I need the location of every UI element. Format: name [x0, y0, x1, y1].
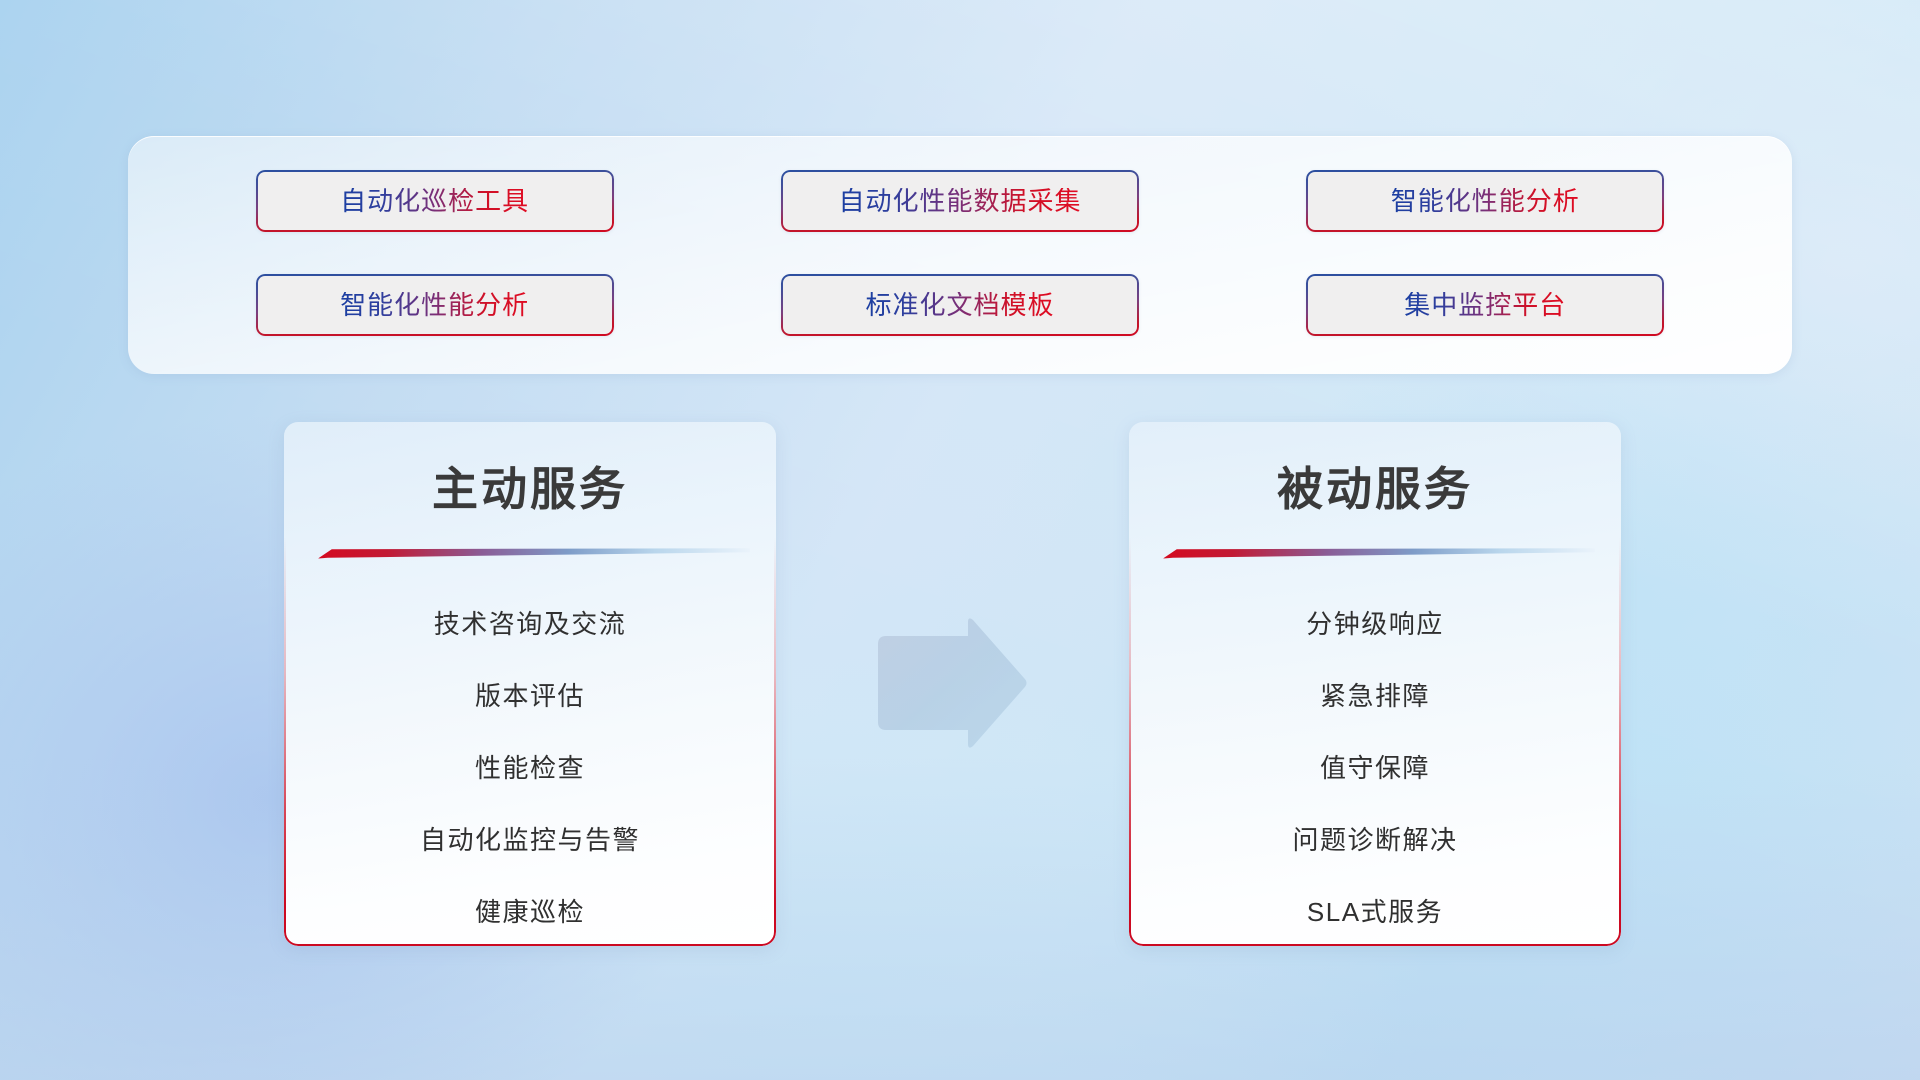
reactive-service-list: 分钟级响应 紧急排障 值守保障 问题诊断解决 SLA式服务	[1129, 588, 1621, 948]
capabilities-panel: 自动化巡检工具 自动化性能数据采集 智能化性能分析 智能化性能分析 标准化文档模…	[128, 136, 1792, 374]
capability-pill-label: 标准化文档模板	[865, 292, 1054, 318]
capability-pill[interactable]: 自动化巡检工具	[256, 170, 614, 232]
capability-pill[interactable]: 标准化文档模板	[781, 274, 1139, 336]
list-item: 健康巡检	[475, 876, 585, 948]
list-item: 紧急排障	[1320, 660, 1430, 732]
proactive-service-card[interactable]: 主动服务 技术咨询及交流 版本评估 性能检查 自动化监控与告警 健康巡检	[284, 422, 776, 946]
capabilities-grid: 自动化巡检工具 自动化性能数据采集 智能化性能分析 智能化性能分析 标准化文档模…	[128, 136, 1792, 374]
capability-pill[interactable]: 智能化性能分析	[1306, 170, 1664, 232]
list-item: 值守保障	[1320, 732, 1430, 804]
title-divider-gradient	[318, 548, 750, 559]
list-item: 自动化监控与告警	[420, 804, 640, 876]
capability-pill-label: 集中监控平台	[1404, 292, 1566, 318]
capability-pill-label: 智能化性能分析	[340, 292, 529, 318]
capability-pill-label: 自动化性能数据采集	[838, 188, 1081, 214]
proactive-service-title: 主动服务	[284, 466, 776, 512]
arrow-right-icon	[872, 618, 1032, 748]
capability-pill[interactable]: 集中监控平台	[1306, 274, 1664, 336]
list-item: 分钟级响应	[1306, 588, 1444, 660]
list-item: SLA式服务	[1307, 876, 1443, 948]
capability-pill[interactable]: 自动化性能数据采集	[781, 170, 1139, 232]
list-item: 版本评估	[475, 660, 585, 732]
capability-pill-label: 自动化巡检工具	[340, 188, 529, 214]
proactive-service-list: 技术咨询及交流 版本评估 性能检查 自动化监控与告警 健康巡检	[284, 588, 776, 948]
reactive-service-title: 被动服务	[1129, 466, 1621, 512]
capability-pill-label: 智能化性能分析	[1391, 188, 1580, 214]
title-divider-gradient	[1163, 548, 1595, 559]
reactive-service-card[interactable]: 被动服务 分钟级响应 紧急排障 值守保障 问题诊断解决 SLA式服务	[1129, 422, 1621, 946]
list-item: 性能检查	[475, 732, 585, 804]
list-item: 问题诊断解决	[1292, 804, 1457, 876]
list-item: 技术咨询及交流	[434, 588, 627, 660]
capability-pill[interactable]: 智能化性能分析	[256, 274, 614, 336]
